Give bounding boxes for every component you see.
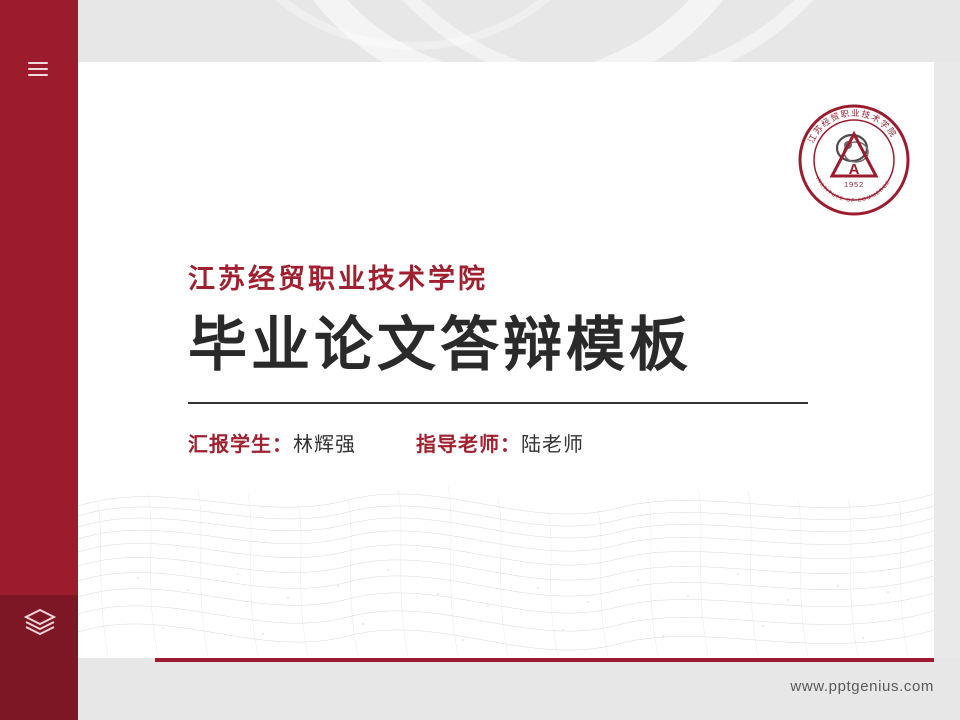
svg-text:1952: 1952 xyxy=(844,180,864,189)
hamburger-icon[interactable] xyxy=(28,62,50,78)
title-divider xyxy=(188,402,808,404)
slide-card: 江苏经贸职业技术学院 INSTITUTE OF COMMERCE A 1952 … xyxy=(78,62,934,658)
presentation-slide: 江苏经贸职业技术学院 INSTITUTE OF COMMERCE A 1952 … xyxy=(0,0,960,720)
hamburger-line-2 xyxy=(28,68,48,70)
hamburger-line-3 xyxy=(28,74,48,76)
advisor-label: 指导老师： xyxy=(416,428,521,457)
hamburger-line-1 xyxy=(28,62,48,64)
top-decorative-band xyxy=(78,0,960,62)
title-text-block: 江苏经贸职业技术学院 毕业论文答辩模板 汇报学生： 林辉强 指导老师： 陆老师 xyxy=(188,257,868,457)
bottom-accent-rule xyxy=(155,658,934,662)
credits-row: 汇报学生： 林辉强 指导老师： 陆老师 xyxy=(188,428,868,457)
layers-stack-icon[interactable] xyxy=(22,604,58,640)
school-name: 江苏经贸职业技术学院 xyxy=(188,257,868,296)
page-title: 毕业论文答辩模板 xyxy=(188,312,868,380)
svg-text:A: A xyxy=(849,161,860,178)
presenter-name: 林辉强 xyxy=(293,428,356,457)
wave-mesh-graphic xyxy=(78,428,934,658)
school-emblem-badge: 江苏经贸职业技术学院 INSTITUTE OF COMMERCE A 1952 xyxy=(798,104,910,216)
advisor-name: 陆老师 xyxy=(521,428,584,457)
presenter-label: 汇报学生： xyxy=(188,428,293,457)
footer-url[interactable]: www.pptgenius.com xyxy=(790,678,934,695)
